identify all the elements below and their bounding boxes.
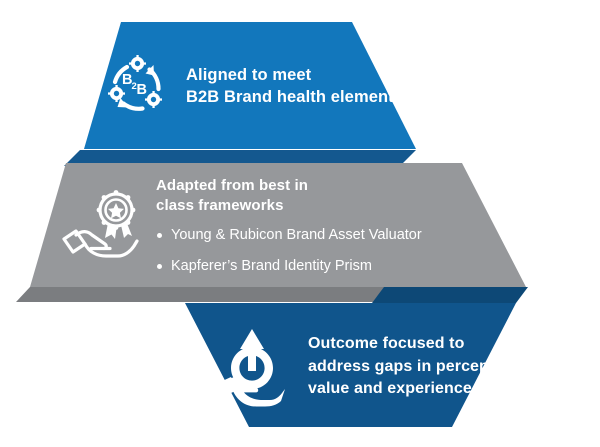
- hand-holding-growth-arrow-icon: [212, 327, 292, 407]
- bottom-headline-line-3: value and experience: [308, 380, 472, 397]
- top-band-text: Aligned to meet B2B Brand health element: [186, 64, 434, 109]
- top-band-content: B 2 B Aligned to meet B2B Brand health e…: [104, 48, 434, 124]
- middle-band-bullet-list: Young & Rubicon Brand Asset Valuator Kap…: [156, 226, 508, 277]
- middle-band-content: Adapted from best in class frameworks Yo…: [58, 172, 508, 287]
- diagram-band-top: B 2 B Aligned to meet B2B Brand health e…: [0, 0, 600, 170]
- bottom-headline-line-2: address gaps in perception,: [308, 358, 523, 375]
- hand-holding-award-icon: [58, 186, 142, 270]
- bottom-band-content: Outcome focused to address gaps in perce…: [212, 324, 542, 410]
- top-headline-line-2: B2B Brand health element: [186, 88, 394, 106]
- middle-band-text: Adapted from best in class frameworks Yo…: [156, 176, 508, 276]
- diagram-canvas: B 2 B Aligned to meet B2B Brand health e…: [0, 0, 600, 447]
- middle-band-headline: Adapted from best in class frameworks: [156, 176, 508, 217]
- bottom-band-text: Outcome focused to address gaps in perce…: [308, 333, 542, 401]
- diagram-band-bottom: Outcome focused to address gaps in perce…: [0, 287, 600, 447]
- diagram-band-middle: Adapted from best in class frameworks Yo…: [0, 150, 600, 310]
- list-item: Young & Rubicon Brand Asset Valuator: [156, 226, 508, 245]
- middle-headline-line-1: Adapted from best in: [156, 177, 308, 194]
- list-item: Kapferer’s Brand Identity Prism: [156, 257, 508, 276]
- top-band-headline: Aligned to meet B2B Brand health element: [186, 64, 434, 109]
- bottom-band-headline: Outcome focused to address gaps in perce…: [308, 333, 542, 401]
- top-headline-line-1: Aligned to meet: [186, 66, 311, 84]
- bottom-headline-line-1: Outcome focused to: [308, 335, 464, 352]
- bottom-band-shadow: [372, 287, 528, 303]
- svg-text:B: B: [137, 82, 147, 98]
- b2b-cycle-icon: B 2 B: [104, 53, 170, 119]
- middle-headline-line-2: class frameworks: [156, 197, 284, 214]
